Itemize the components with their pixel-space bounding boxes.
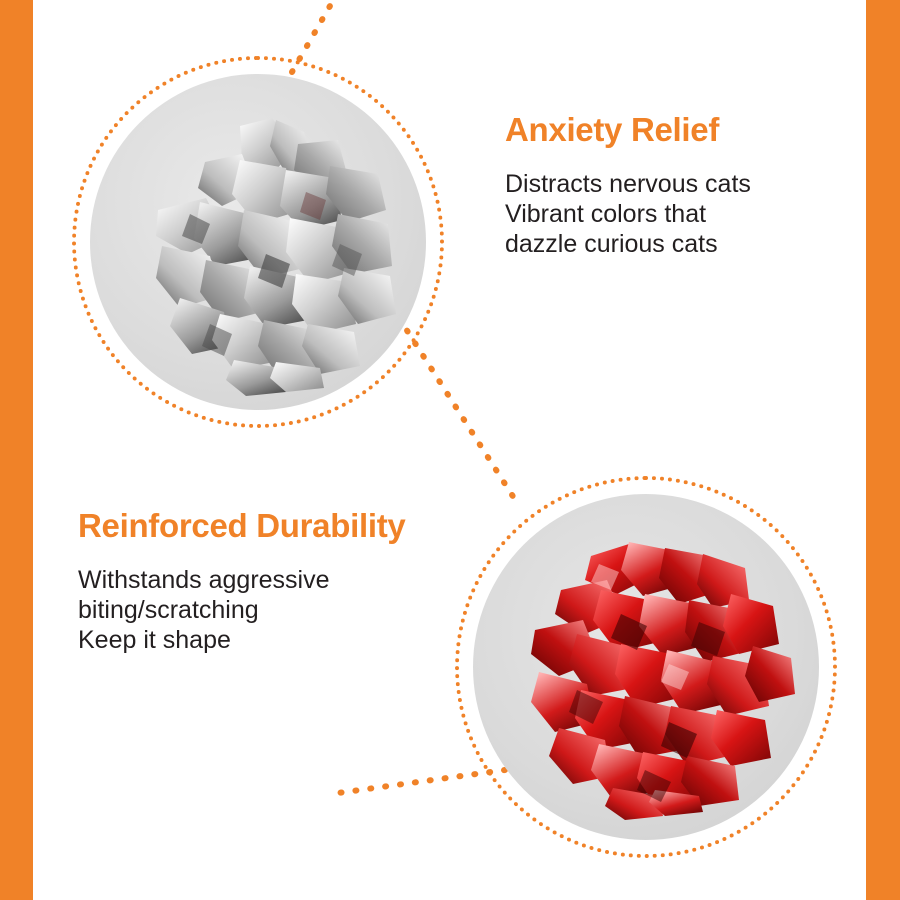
red-medallion-dotted-ring <box>455 476 837 858</box>
red-foil-ball-medallion <box>455 476 837 858</box>
feature-body-reinforced-durability: Withstands aggressive biting/scratching … <box>78 565 418 655</box>
silver-foil-ball-medallion <box>72 56 444 428</box>
right-orange-border <box>866 0 900 900</box>
product-feature-infographic: Anxiety Relief Distracts nervous cats Vi… <box>0 0 900 900</box>
feature-body-line: Withstands aggressive <box>78 565 418 595</box>
feature-body-line: biting/scratching <box>78 595 418 625</box>
feature-title-line: Reinforced <box>78 507 247 544</box>
feature-title-anxiety-relief: Anxiety Relief <box>505 110 835 149</box>
feature-body-line: Keep it shape <box>78 625 418 655</box>
feature-title-line: Durability <box>256 507 405 544</box>
left-orange-border <box>0 0 33 900</box>
feature-body-line: dazzle curious cats <box>505 229 835 259</box>
feature-title-reinforced-durability: Reinforced Durability <box>78 506 418 545</box>
feature-block-reinforced-durability: Reinforced Durability Withstands aggress… <box>78 506 418 655</box>
feature-body-line: Vibrant colors that <box>505 199 835 229</box>
feature-block-anxiety-relief: Anxiety Relief Distracts nervous cats Vi… <box>505 110 835 259</box>
silver-medallion-dotted-ring <box>72 56 444 428</box>
feature-body-anxiety-relief: Distracts nervous cats Vibrant colors th… <box>505 169 835 259</box>
feature-body-line: Distracts nervous cats <box>505 169 835 199</box>
